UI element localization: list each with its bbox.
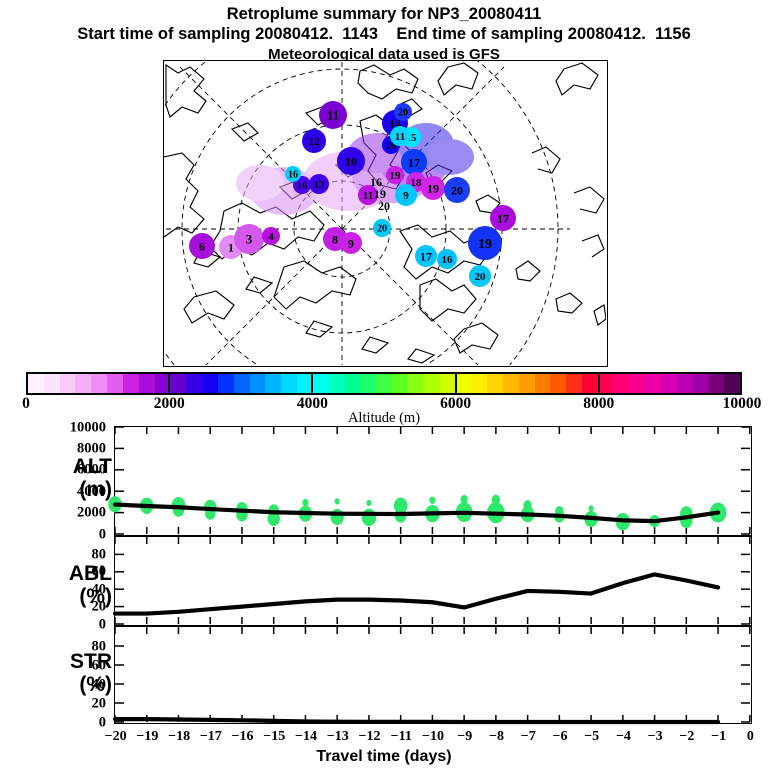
y-tick-label: 2000: [42, 505, 106, 522]
colorbar-segment: [265, 374, 281, 393]
colorbar-segment: [28, 374, 44, 393]
y-tick-label: 20: [42, 599, 106, 616]
alt-scatter-marker: [330, 509, 344, 525]
colorbar-segment: [234, 374, 250, 393]
plume-circle-label: 9: [403, 190, 409, 202]
colorbar-segment: [75, 374, 91, 393]
plume-circle-label: 16: [288, 170, 298, 181]
colorbar-segment: [677, 374, 693, 393]
x-tick-label: −2: [679, 729, 694, 745]
str-panel[interactable]: [114, 626, 752, 724]
sampling-time-subtitle: Start time of sampling 20080412. 1143 En…: [0, 24, 768, 45]
plume-circle-label: 12: [309, 136, 321, 148]
y-tick-label: 4000: [42, 483, 106, 500]
alt-panel[interactable]: [114, 426, 752, 536]
x-tick-label: −15: [263, 729, 285, 745]
str-plot: [115, 627, 750, 722]
x-tick-label: −14: [295, 729, 317, 745]
y-tick-label: 6000: [42, 462, 106, 479]
x-tick-label: −10: [422, 729, 444, 745]
colorbar-axis-title: Altitude (m): [0, 410, 768, 427]
colorbar-segment: [345, 374, 361, 393]
colorbar-segment: [566, 374, 582, 393]
colorbar-segment: [582, 374, 598, 393]
colorbar-segment: [170, 374, 186, 393]
x-tick-label: −5: [584, 729, 599, 745]
coastlines: [164, 63, 606, 363]
plume-circle-label: 16: [297, 180, 309, 192]
alt-scatter-marker: [302, 499, 308, 506]
alt-scatter-marker: [429, 497, 435, 504]
colorbar-segment: [535, 374, 551, 393]
plume-circle-label: 3: [246, 232, 253, 247]
alt-plot: [115, 427, 750, 534]
colorbar-segment: [376, 374, 392, 393]
colorbar-divider: [311, 372, 313, 395]
colorbar-divider: [598, 372, 600, 395]
alt-scatter-marker: [362, 509, 377, 526]
colorbar-segment: [91, 374, 107, 393]
x-tick-label: −17: [200, 729, 222, 745]
x-tick-label: −19: [136, 729, 158, 745]
x-tick-label: −3: [648, 729, 663, 745]
plume-circle-label: 11: [363, 190, 373, 202]
colorbar-segment: [503, 374, 519, 393]
y-tick-label: 0: [42, 526, 106, 543]
plume-circle-label: 10: [345, 154, 357, 168]
plume-circle-label: 17: [420, 249, 432, 263]
colorbar-segment: [487, 374, 503, 393]
x-tick-label: −12: [359, 729, 381, 745]
colorbar-segment: [218, 374, 234, 393]
colorbar-segment: [60, 374, 76, 393]
y-tick-label: 20: [42, 695, 106, 712]
plume-circle-label: 19: [390, 170, 402, 182]
colorbar-segment: [313, 374, 329, 393]
retroplume-map[interactable]: 1346891011111213141516161718191920201719…: [163, 60, 608, 367]
plume-circle-label: 6: [199, 239, 205, 253]
colorbar-segment: [424, 374, 440, 393]
abl-line: [115, 574, 718, 613]
alt-scatter-marker: [335, 498, 340, 504]
plume-circle-label: 20: [377, 224, 387, 235]
plume-circle-label: 16: [442, 254, 454, 266]
colorbar-segment: [202, 374, 218, 393]
x-tick-label: −13: [327, 729, 349, 745]
alt-scatter-marker: [366, 500, 371, 506]
plume-circle-label: 19: [478, 237, 492, 252]
plume-circle-label: 20: [398, 108, 408, 119]
y-tick-label: 80: [42, 547, 106, 564]
colorbar-segment: [645, 374, 661, 393]
map-graphic: 1346891011111213141516161718191920201719…: [164, 61, 606, 365]
plume-circle-label: 19: [427, 181, 439, 195]
plume-circle-label: 11: [395, 131, 405, 143]
colorbar-segment: [281, 374, 297, 393]
x-axis-tick-labels: −20−19−18−17−16−15−14−13−12−11−10−9−8−7−…: [0, 729, 768, 747]
colorbar-segment: [519, 374, 535, 393]
x-tick-label: −8: [489, 729, 504, 745]
colorbar-segment: [598, 374, 614, 393]
colorbar-segment: [693, 374, 709, 393]
x-tick-label: −16: [232, 729, 254, 745]
y-tick-label: 8000: [42, 441, 106, 458]
alt-scatter-marker: [589, 505, 594, 511]
y-tick-label: 40: [42, 676, 106, 693]
colorbar-segment: [440, 374, 456, 393]
colorbar-divider: [168, 372, 170, 395]
colorbar-segment: [139, 374, 155, 393]
colorbar-segment: [250, 374, 266, 393]
x-tick-label: −18: [168, 729, 190, 745]
colorbar-segment: [724, 374, 740, 393]
plume-circle-label: 20: [475, 271, 487, 283]
y-tick-label: 0: [42, 616, 106, 633]
plume-circle-label: 11: [327, 108, 339, 123]
y-tick-label: 60: [42, 657, 106, 674]
x-tick-label: −7: [521, 729, 536, 745]
colorbar-segment: [629, 374, 645, 393]
plume-circle-label: 17: [497, 211, 509, 225]
title-block: Retroplume summary for NP3_20080411 Star…: [0, 0, 768, 64]
plume-circle-label: 1: [228, 240, 234, 254]
colorbar-segment: [186, 374, 202, 393]
abl-plot: [115, 537, 750, 624]
colorbar-divider: [455, 372, 457, 395]
colorbar-segment: [709, 374, 725, 393]
colorbar-segment: [614, 374, 630, 393]
x-tick-label: 0: [747, 729, 754, 745]
y-tick-label: 10000: [42, 419, 106, 436]
y-tick-label: 80: [42, 638, 106, 655]
colorbar-segment: [123, 374, 139, 393]
plume-day-label: 20: [378, 199, 390, 213]
colorbar-segment: [329, 374, 345, 393]
page-title: Retroplume summary for NP3_20080411: [0, 4, 768, 24]
x-tick-label: −11: [391, 729, 412, 745]
x-axis-title: Travel time (days): [0, 748, 768, 766]
colorbar-segment: [550, 374, 566, 393]
colorbar-segment: [392, 374, 408, 393]
plume-circle-label: 13: [314, 179, 326, 191]
abl-panel[interactable]: [114, 536, 752, 626]
altitude-colorbar[interactable]: [26, 372, 742, 395]
x-tick-label: −6: [552, 729, 567, 745]
str-line: [115, 719, 718, 722]
y-tick-label: 40: [42, 581, 106, 598]
plume-circle-label: 9: [348, 236, 354, 250]
colorbar-segment: [360, 374, 376, 393]
colorbar-segment: [44, 374, 60, 393]
colorbar-segment: [661, 374, 677, 393]
x-tick-label: −20: [105, 729, 127, 745]
plume-circle-label: 8: [332, 232, 338, 246]
x-tick-label: −9: [457, 729, 472, 745]
y-tick-label: 60: [42, 564, 106, 581]
plume-circle-label: 17: [408, 155, 420, 169]
x-tick-label: −1: [711, 729, 726, 745]
plume-circle-label: 4: [268, 231, 274, 243]
colorbar-segment: [408, 374, 424, 393]
colorbar-segment: [107, 374, 123, 393]
colorbar-segment: [455, 374, 471, 393]
colorbar-segment: [471, 374, 487, 393]
plume-circle-label: 20: [451, 183, 463, 197]
x-tick-label: −4: [616, 729, 631, 745]
